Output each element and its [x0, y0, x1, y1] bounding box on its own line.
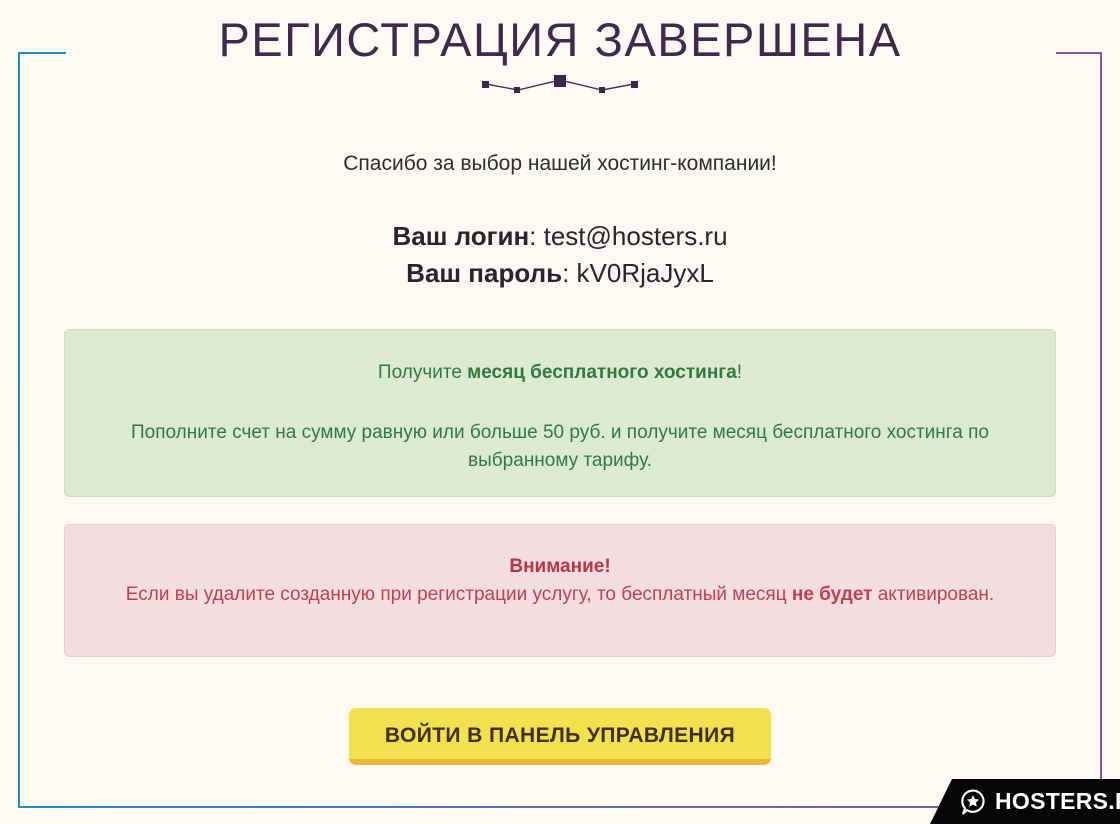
promo-headline-suffix: ! — [737, 362, 742, 383]
warning-notice: Внимание! Если вы удалите созданную при … — [64, 524, 1056, 657]
warning-body-prefix: Если вы удалите созданную при регистраци… — [126, 584, 792, 605]
promo-headline-prefix: Получите — [378, 362, 467, 383]
warning-body-strong: не будет — [792, 584, 873, 605]
cta-container: ВОЙТИ В ПАНЕЛЬ УПРАВЛЕНИЯ — [0, 708, 1120, 765]
password-separator: : — [562, 258, 576, 288]
registration-complete-page: РЕГИСТРАЦИЯ ЗАВЕРШЕНА Спасибо за выбор н… — [0, 0, 1120, 824]
warning-headline: Внимание! — [95, 553, 1025, 580]
open-control-panel-button[interactable]: ВОЙТИ В ПАНЕЛЬ УПРАВЛЕНИЯ — [349, 708, 771, 765]
login-line: Ваш логин: test@hosters.ru — [0, 218, 1120, 255]
warning-body: Если вы удалите созданную при регистраци… — [95, 580, 1025, 609]
login-label: Ваш логин — [392, 221, 529, 251]
title-block: РЕГИСТРАЦИЯ ЗАВЕРШЕНА — [0, 14, 1120, 99]
warning-body-suffix: активирован. — [872, 584, 994, 605]
promo-headline: Получите месяц бесплатного хостинга! — [89, 360, 1031, 386]
credentials-block: Ваш логин: test@hosters.ru Ваш пароль: k… — [0, 218, 1120, 292]
page-title: РЕГИСТРАЦИЯ ЗАВЕРШЕНА — [0, 14, 1120, 67]
promo-headline-strong: месяц бесплатного хостинга — [467, 362, 737, 383]
promo-body: Пополните счет на сумму равную или больш… — [89, 419, 1031, 475]
login-separator: : — [529, 221, 543, 251]
password-label: Ваш пароль — [406, 258, 562, 288]
login-value: test@hosters.ru — [544, 221, 728, 251]
password-line: Ваш пароль: kV0RjaJyxL — [0, 255, 1120, 292]
hosters-logo-text: HOSTERS.RU — [995, 790, 1120, 813]
zigzag-divider-icon — [480, 73, 640, 99]
hosters-logo-badge[interactable]: HOSTERS.RU — [930, 779, 1120, 824]
password-value: kV0RjaJyxL — [577, 258, 714, 288]
promo-notice: Получите месяц бесплатного хостинга! Поп… — [64, 329, 1056, 497]
star-speech-bubble-icon — [960, 789, 986, 815]
thanks-message: Спасибо за выбор нашей хостинг-компании! — [0, 152, 1120, 176]
